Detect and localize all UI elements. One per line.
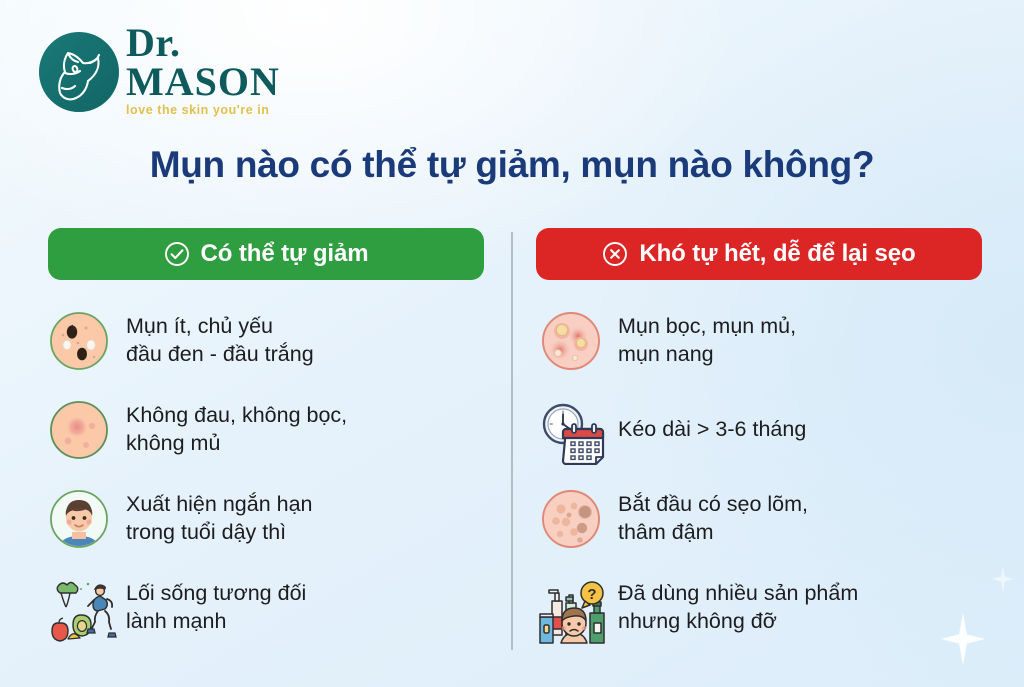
list-item-label: Không đau, không bọc, không mủ [126,402,347,457]
list-item: Xuất hiện ngắn hạn trong tuổi dậy thì [48,482,488,556]
list-item-label: Bắt đầu có sẹo lõm, thâm đậm [618,491,808,546]
comparison-columns: Có thể tự giảm [0,228,1024,658]
brand-wordmark: Dr. MASON love the skin you're in [126,24,280,119]
skin-atrophic-scar-icon [536,488,606,550]
column-can-self-resolve: Có thể tự giảm [48,228,488,660]
list-item-label: Kéo dài > 3-6 tháng [618,416,806,444]
list-item: Kéo dài > 3-6 tháng [536,393,984,467]
brand-name-line2: MASON [126,62,280,102]
list-item-label: Lối sống tương đối lành mạnh [126,580,306,635]
skin-blackhead-whitehead-icon [48,310,110,372]
teen-boy-face-icon [48,488,110,550]
brand-logo: Dr. MASON love the skin you're in [38,24,280,119]
list-item: ? Đã dùng nhiều sản phẩ [536,571,984,645]
brand-name-line1: Dr. [126,24,280,62]
check-circle-icon [164,241,190,267]
list-item: Mụn bọc, mụn mủ, mụn nang [536,304,984,378]
badge-label: Có thể tự giảm [201,240,369,268]
svg-text:?: ? [587,586,596,603]
healthy-lifestyle-icon [48,577,110,639]
brand-tagline: love the skin you're in [126,103,280,117]
badge-can-self-resolve: Có thể tự giảm [48,228,484,280]
list-item: Lối sống tương đối lành mạnh [48,571,488,645]
column-hard-to-resolve: Khó tự hết, dễ để lại sẹo [536,228,984,660]
horse-head-circle-logo-icon [38,31,120,113]
column-divider [511,232,513,650]
skincare-products-confused-icon: ? [536,577,606,639]
list-item: Không đau, không bọc, không mủ [48,393,488,467]
list-item-label: Đã dùng nhiều sản phẩm nhưng không đỡ [618,580,858,635]
clock-calendar-icon [536,399,606,461]
left-item-list: Mụn ít, chủ yếu đầu đen - đầu trắng [48,304,488,645]
list-item-label: Mụn ít, chủ yếu đầu đen - đầu trắng [126,313,314,368]
badge-label: Khó tự hết, dễ để lại sẹo [639,240,915,268]
list-item-label: Mụn bọc, mụn mủ, mụn nang [618,313,796,368]
list-item: Mụn ít, chủ yếu đầu đen - đầu trắng [48,304,488,378]
skin-mild-red-spot-icon [48,399,110,461]
skin-cystic-pustule-icon [536,310,606,372]
right-item-list: Mụn bọc, mụn mủ, mụn nang [536,304,984,645]
x-circle-icon [602,241,628,267]
badge-hard-to-resolve: Khó tự hết, dễ để lại sẹo [536,228,982,280]
list-item: Bắt đầu có sẹo lõm, thâm đậm [536,482,984,556]
list-item-label: Xuất hiện ngắn hạn trong tuổi dậy thì [126,491,313,546]
page-title: Mụn nào có thể tự giảm, mụn nào không? [0,144,1024,186]
